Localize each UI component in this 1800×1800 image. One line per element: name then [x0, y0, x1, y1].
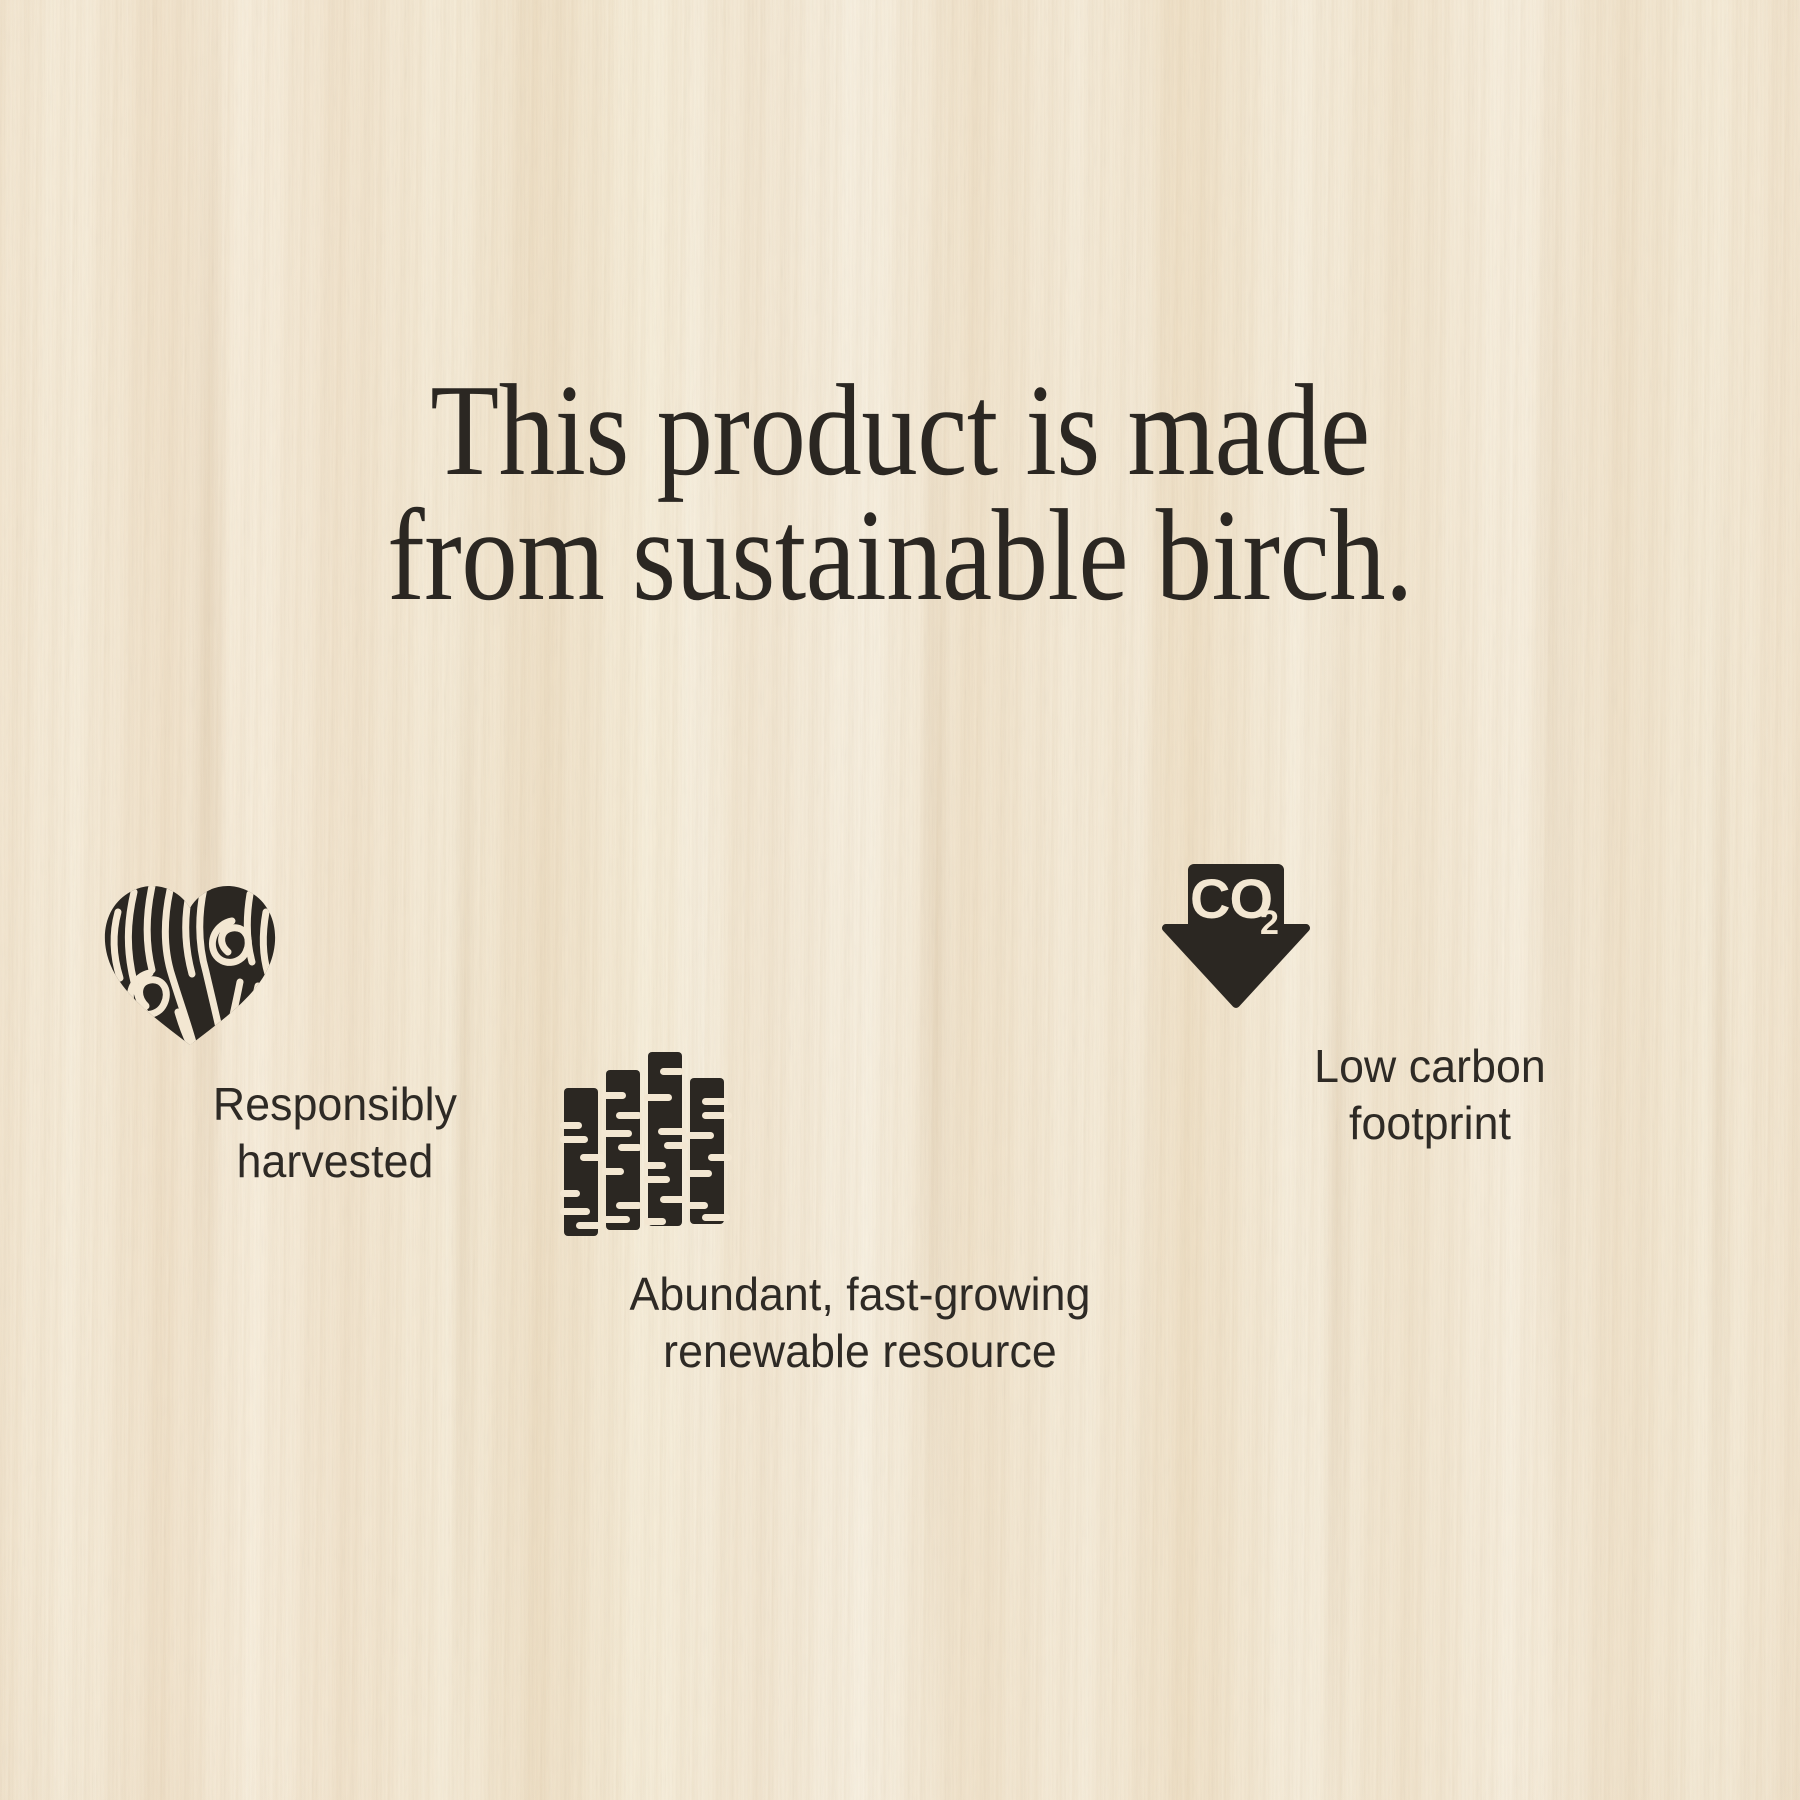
feature-low-carbon-footprint: CO 2 Low carbon footprint [1150, 860, 1710, 1152]
feature-responsibly-harvested: Responsibly harvested [100, 878, 570, 1190]
co2-down-arrow-icon: CO 2 [1150, 860, 1710, 1012]
feature-caption: Responsibly harvested [107, 1076, 563, 1190]
page-title: This product is made from sustainable bi… [126, 368, 1674, 618]
feature-caption: Low carbon footprint [1158, 1038, 1701, 1152]
co2-subscript: 2 [1260, 904, 1279, 942]
birch-trunks-icon [560, 1050, 1160, 1240]
woodgrain-heart-icon [100, 878, 570, 1050]
feature-renewable-resource: Abundant, fast-growing renewable resourc… [560, 1050, 1160, 1380]
feature-caption: Abundant, fast-growing renewable resourc… [569, 1266, 1151, 1380]
sustainable-birch-poster: This product is made from sustainable bi… [0, 0, 1800, 1800]
feature-list: Responsibly harvested [60, 860, 1740, 1420]
poster-content: This product is made from sustainable bi… [0, 0, 1800, 1800]
